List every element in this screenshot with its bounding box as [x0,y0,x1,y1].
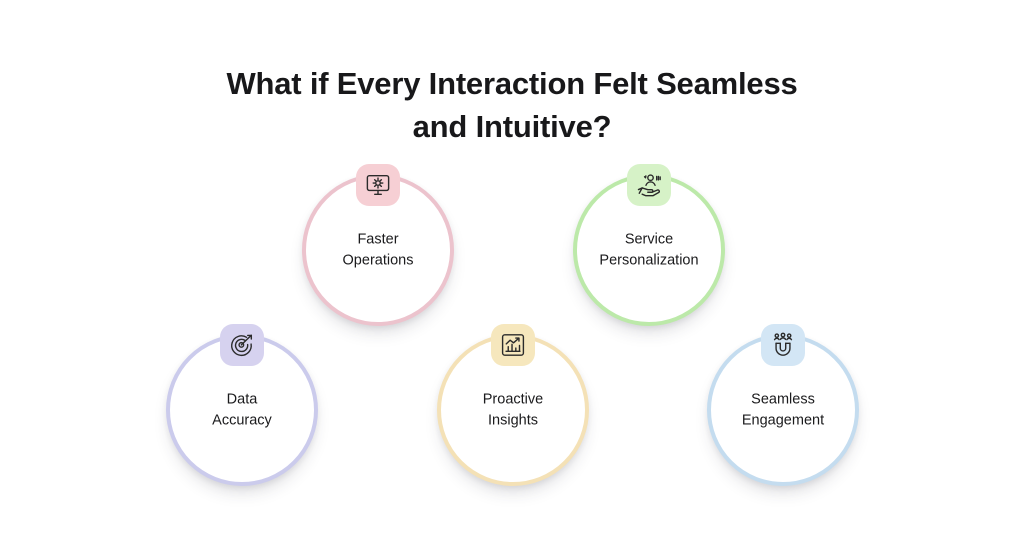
card-service-personalization[interactable]: Service Personalization [573,174,725,326]
card-label-line-1: Data [227,392,258,408]
target-arrow-icon [229,332,255,358]
magnet-people-icon [770,332,796,358]
card-data-accuracy[interactable]: Data Accuracy [166,334,318,486]
card-label-proactive-insights: Proactive Insights [443,390,583,431]
badge-seamless-engagement [761,324,805,366]
card-label-faster-operations: Faster Operations [308,230,448,271]
card-label-line-2: Accuracy [172,410,312,431]
hand-user-icon [636,172,662,198]
card-label-line-1: Seamless [751,392,815,408]
card-proactive-insights[interactable]: Proactive Insights [437,334,589,486]
card-label-service-personalization: Service Personalization [579,230,719,271]
badge-service-personalization [627,164,671,206]
card-label-line-2: Insights [443,410,583,431]
card-faster-operations[interactable]: Faster Operations [302,174,454,326]
card-label-line-1: Faster [357,232,398,248]
card-label-line-1: Service [625,232,673,248]
page-title-line-2: and Intuitive? [0,105,1024,148]
badge-proactive-insights [491,324,535,366]
infographic-canvas: What if Every Interaction Felt Seamless … [0,0,1024,559]
badge-faster-operations [356,164,400,206]
page-title-line-1: What if Every Interaction Felt Seamless [0,62,1024,105]
card-label-line-2: Operations [308,250,448,271]
bar-chart-trend-icon [500,332,526,358]
monitor-gear-icon [365,172,391,198]
card-seamless-engagement[interactable]: Seamless Engagement [707,334,859,486]
card-label-data-accuracy: Data Accuracy [172,390,312,431]
card-label-line-2: Engagement [713,410,853,431]
card-label-seamless-engagement: Seamless Engagement [713,390,853,431]
card-label-line-1: Proactive [483,392,543,408]
card-label-line-2: Personalization [579,250,719,271]
badge-data-accuracy [220,324,264,366]
page-title: What if Every Interaction Felt Seamless … [0,62,1024,148]
